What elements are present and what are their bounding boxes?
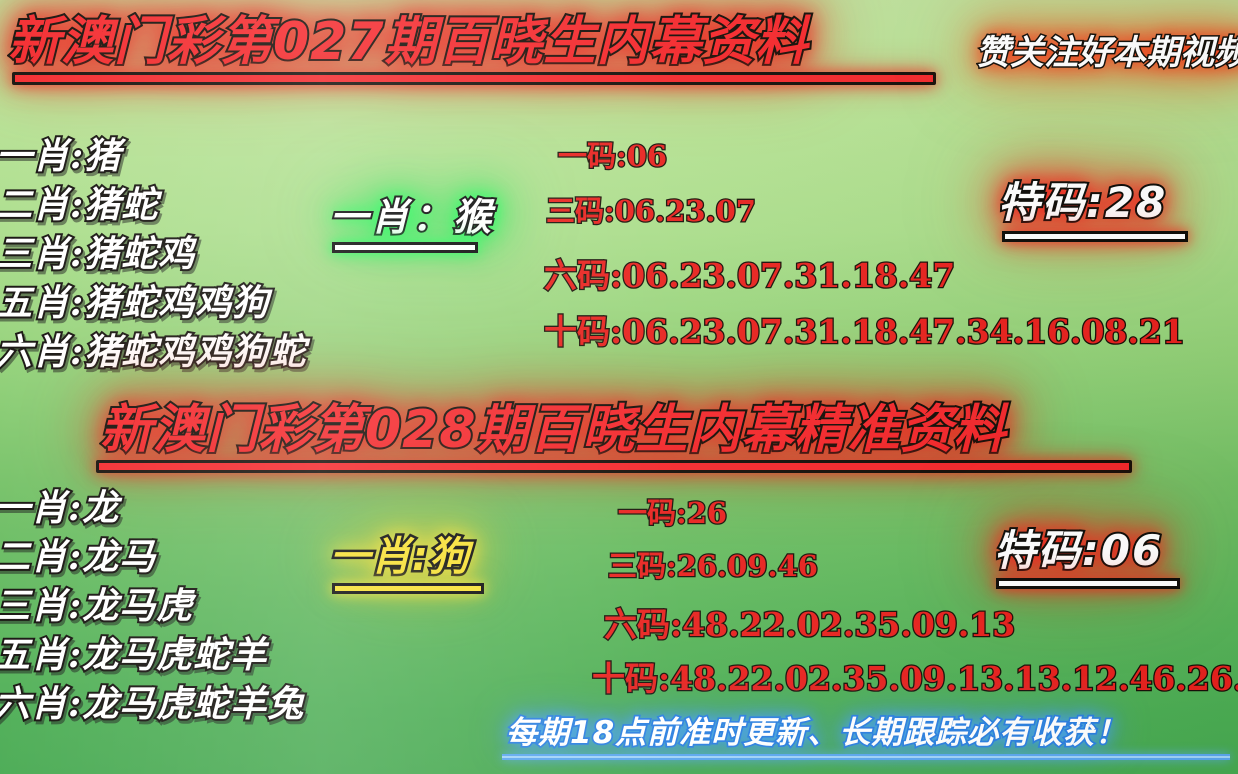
section-1-title: 新澳门彩第027期百晓生内幕资料 [8, 16, 809, 68]
bottom-banner-underline [502, 754, 1230, 760]
section-2-title: 新澳门彩第028期百晓生内幕精准资料 [100, 404, 1007, 456]
section-2-special-label: 特码:06 [994, 530, 1163, 572]
section-1-pick-underline [332, 242, 478, 253]
section-1-zodiac-item: 一肖:猪 [0, 138, 121, 174]
promo-text: 赞关注好本期视频 [976, 36, 1238, 70]
section-2-pick-underline [332, 583, 484, 594]
bottom-banner-text: 每期18点前准时更新、长期跟踪必有收获！ [506, 718, 1127, 749]
section-1-code-3: 三码:06.23.07 [546, 197, 756, 226]
section-2-zodiac-item: 六肖:龙马虎蛇羊兔 [0, 686, 304, 722]
section-2-zodiac-item: 五肖:龙马虎蛇羊 [0, 637, 267, 673]
section-2-pick-label: 一肖:狗 [330, 537, 470, 577]
section-1-code-10: 十码:06.23.07.31.18.47.34.16.08.21 [544, 315, 1185, 348]
section-2-special-underline [996, 578, 1180, 589]
section-2-zodiac-item: 三肖:龙马虎 [0, 588, 193, 624]
section-1-title-underline [12, 72, 936, 85]
section-1-pick-label: 一肖：猴 [330, 198, 494, 236]
section-1-zodiac-item: 三肖:猪蛇鸡 [0, 236, 195, 272]
section-2-code-1: 一码:26 [618, 499, 727, 528]
section-2-zodiac-item: 二肖:龙马 [0, 539, 156, 575]
section-2-zodiac-item: 一肖:龙 [0, 490, 119, 526]
section-1-zodiac-item: 二肖:猪蛇 [0, 187, 158, 223]
poster-root: 新澳门彩第027期百晓生内幕资料 赞关注好本期视频 一肖:猪 二肖:猪蛇 三肖:… [0, 0, 1238, 774]
section-1-code-1: 一码:06 [558, 142, 667, 171]
section-2-code-10: 十码:48.22.02.35.09.13.13.12.46.26.03 [592, 662, 1238, 695]
section-2-code-6: 六码:48.22.02.35.09.13 [604, 608, 1015, 641]
section-1-special-label: 特码:28 [998, 182, 1167, 224]
section-2-code-3: 三码:26.09.46 [608, 552, 818, 581]
section-2-title-underline [96, 460, 1132, 473]
section-1-zodiac-item: 六肖:猪蛇鸡鸡狗蛇 [0, 334, 306, 370]
section-1-zodiac-item: 五肖:猪蛇鸡鸡狗 [0, 285, 269, 321]
section-1-special-underline [1002, 231, 1188, 242]
section-1-code-6: 六码:06.23.07.31.18.47 [544, 259, 955, 292]
